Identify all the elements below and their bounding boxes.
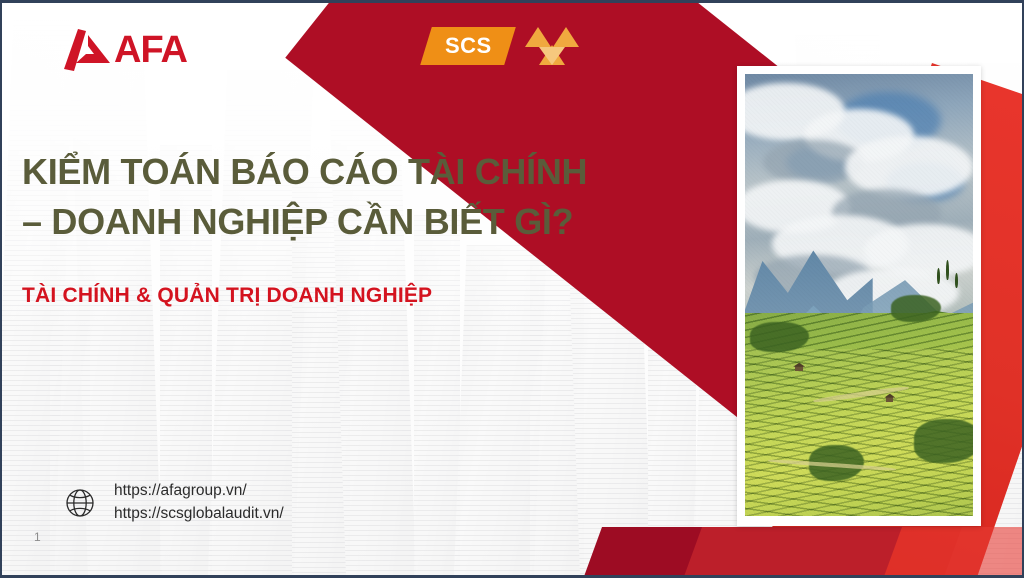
- page-subtitle: TÀI CHÍNH & QUẢN TRỊ DOANH NGHIỆP: [22, 284, 622, 308]
- landscape-photo: [745, 74, 973, 516]
- slide-canvas: AFA SCS KIỂM TOÁN BÁO CÁO TÀI CHÍNH – DO…: [0, 0, 1024, 578]
- scs-logo-plate: SCS: [420, 27, 516, 65]
- website-link-list: https://afagroup.vn/ https://scsglobalau…: [114, 481, 284, 525]
- scs-triangle-mark-icon: [524, 27, 580, 65]
- website-link-afa[interactable]: https://afagroup.vn/: [114, 481, 284, 502]
- photo-grain: [745, 74, 973, 516]
- page-title: KIỂM TOÁN BÁO CÁO TÀI CHÍNH – DOANH NGHI…: [22, 147, 632, 246]
- title-line-1: KIỂM TOÁN BÁO CÁO TÀI CHÍNH: [22, 151, 587, 192]
- website-links: https://afagroup.vn/ https://scsglobalau…: [64, 481, 284, 525]
- photo-card: [737, 66, 981, 526]
- afa-arrow-mark-icon: [64, 29, 112, 71]
- afa-logo-text: AFA: [114, 31, 187, 69]
- scs-logo[interactable]: SCS: [426, 25, 580, 67]
- title-line-2: – DOANH NGHIỆP CẦN BIẾT GÌ?: [22, 197, 632, 247]
- page-number: 1: [34, 530, 41, 544]
- afa-logo[interactable]: AFA: [64, 28, 187, 72]
- website-link-scs[interactable]: https://scsglobalaudit.vn/: [114, 504, 284, 525]
- scs-logo-text: SCS: [445, 33, 492, 59]
- globe-icon: [64, 487, 96, 519]
